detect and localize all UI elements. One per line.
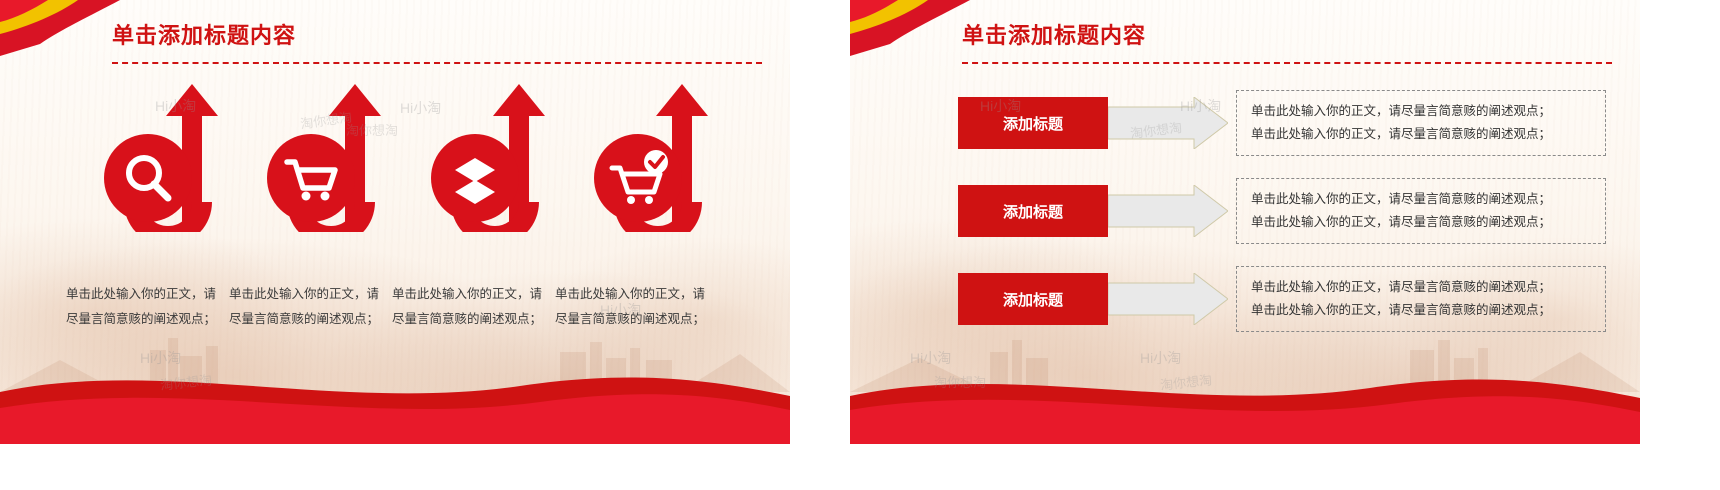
slide-deck: 单击添加标题内容 [0,0,1720,490]
slide-header: 单击添加标题内容 [110,18,762,64]
icon-row [96,82,726,232]
arrow-connector [1108,273,1228,325]
caption-4: 单击此处输入你的正文，请尽量言简意赅的阐述观点； [555,282,718,332]
row-text-line: 单击此处输入你的正文，请尽量言简意赅的阐述观点； [1251,123,1593,146]
caption-1: 单击此处输入你的正文，请尽量言简意赅的阐述观点； [66,282,229,332]
caption-2: 单击此处输入你的正文，请尽量言简意赅的阐述观点； [229,282,392,332]
icon-unit-box[interactable] [423,82,563,232]
row-tag-button[interactable]: 添加标题 [958,97,1108,149]
icon-unit-search[interactable] [96,82,236,232]
row-tag-button[interactable]: 添加标题 [958,185,1108,237]
slide-icons: 单击添加标题内容 [0,0,790,444]
slide-header: 单击添加标题内容 [960,18,1612,64]
arrow-connector [1108,185,1228,237]
title-divider [962,62,1612,64]
search-icon [96,82,236,232]
caption-row: 单击此处输入你的正文，请尽量言简意赅的阐述观点； 单击此处输入你的正文，请尽量言… [66,282,746,332]
row-text-line: 单击此处输入你的正文，请尽量言简意赅的阐述观点； [1251,188,1593,211]
row-text-box: 单击此处输入你的正文，请尽量言简意赅的阐述观点； 单击此处输入你的正文，请尽量言… [1236,178,1606,244]
icon-unit-cart[interactable] [259,82,399,232]
page-title: 单击添加标题内容 [112,18,762,50]
row-text-box: 单击此处输入你的正文，请尽量言简意赅的阐述观点； 单击此处输入你的正文，请尽量言… [1236,90,1606,156]
row-tag-button[interactable]: 添加标题 [958,273,1108,325]
content-row: 添加标题 单击此处输入你的正文，请尽量言简意赅的阐述观点； 单击此处输入你的正文… [958,94,1606,152]
row-text-line: 单击此处输入你的正文，请尽量言简意赅的阐述观点； [1251,100,1593,123]
row-text-line: 单击此处输入你的正文，请尽量言简意赅的阐述观点； [1251,276,1593,299]
icon-unit-cart-check[interactable] [586,82,726,232]
caption-3: 单击此处输入你的正文，请尽量言简意赅的阐述观点； [392,282,555,332]
slide-rows: 单击添加标题内容 添加标题 单击此处输入你的正文，请尽量言简意赅的阐述观点； 单… [850,0,1640,444]
content-row: 添加标题 单击此处输入你的正文，请尽量言简意赅的阐述观点； 单击此处输入你的正文… [958,270,1606,328]
title-divider [112,62,762,64]
content-rows: 添加标题 单击此处输入你的正文，请尽量言简意赅的阐述观点； 单击此处输入你的正文… [958,94,1606,358]
dropbox-box-icon [423,82,563,232]
arrow-connector [1108,97,1228,149]
content-row: 添加标题 单击此处输入你的正文，请尽量言简意赅的阐述观点； 单击此处输入你的正文… [958,182,1606,240]
row-text-line: 单击此处输入你的正文，请尽量言简意赅的阐述观点； [1251,211,1593,234]
page-title: 单击添加标题内容 [962,18,1612,50]
row-text-line: 单击此处输入你的正文，请尽量言简意赅的阐述观点； [1251,299,1593,322]
cart-check-icon [586,82,726,232]
row-text-box: 单击此处输入你的正文，请尽量言简意赅的阐述观点； 单击此处输入你的正文，请尽量言… [1236,266,1606,332]
slide-separator [790,0,850,444]
shopping-cart-icon [259,82,399,232]
